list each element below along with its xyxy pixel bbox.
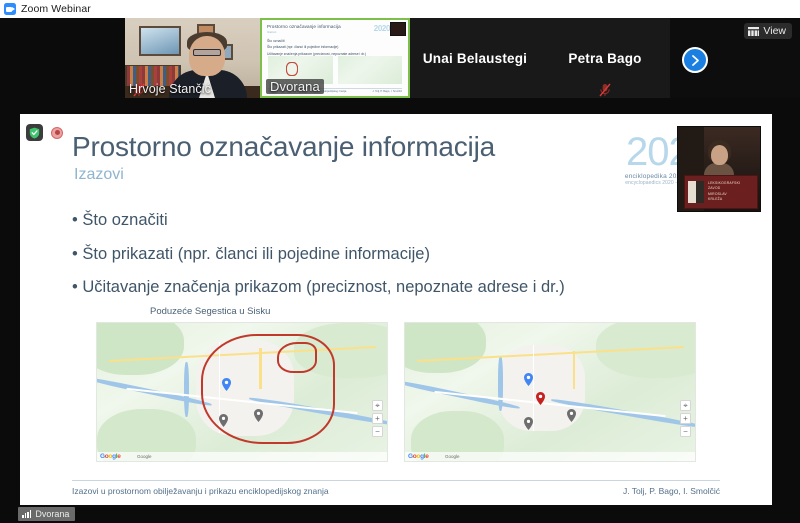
zoom-stage: Hrvoje Stančić 2020 Prostorno označavanj… — [0, 18, 800, 523]
slide-bullet-list: Što označiti Što prikazati (npr. članci … — [72, 212, 712, 313]
map-road — [573, 351, 575, 390]
map-pin-red — [536, 392, 545, 405]
taskbar-item-dvorana[interactable]: Dvorana — [18, 507, 75, 521]
map-boundary-outline — [277, 342, 318, 372]
map-attribution-bar: Google Google — [405, 452, 695, 461]
map-river — [498, 356, 503, 411]
map-pin-grey — [524, 417, 533, 430]
map-pin-grey — [567, 409, 576, 422]
mini-speaker-overlay — [390, 22, 406, 36]
view-button-label: View — [763, 25, 786, 37]
signal-bars-icon — [22, 510, 31, 518]
map-locate-button[interactable]: ⌖ — [372, 400, 383, 411]
map-river — [184, 362, 189, 417]
participant-tile-unai-belaustegi[interactable]: Unai Belaustegi — [410, 18, 540, 98]
map-zoom-in-button[interactable]: + — [372, 413, 383, 424]
shield-check-icon[interactable] — [26, 124, 43, 141]
participant-tile-hrvoje-stancic[interactable]: Hrvoje Stančić — [125, 18, 260, 98]
map-green-area — [96, 322, 184, 375]
shared-screen-region: Prostorno označavanje informacija Izazov… — [0, 98, 800, 523]
slide-footer-authors: J. Tolj, P. Bago, I. Smolčić — [623, 486, 720, 496]
participant-filmstrip: Hrvoje Stančić 2020 Prostorno označavanj… — [0, 18, 800, 98]
filmstrip-empty-area — [0, 18, 125, 98]
lectern-sign: LEKSIKOGRAFSKI ZAVOD MIROSLAV KRLEŽA — [684, 175, 758, 209]
participant-tile-label: Hrvoje Stančić — [129, 82, 211, 96]
share-status-icons — [26, 124, 63, 141]
map-zoom-out-button[interactable]: − — [680, 426, 691, 437]
map-attribution-text: Google — [137, 454, 152, 459]
window-titlebar: Zoom Webinar — [0, 0, 800, 18]
map-pin-blue — [524, 373, 533, 386]
map-pin-grey — [254, 409, 263, 422]
slide-subtitle: Izazovi — [74, 166, 124, 184]
view-button[interactable]: View — [744, 23, 792, 39]
lectern-line: KRLEŽA — [708, 197, 754, 202]
map-pin-blue — [222, 378, 231, 391]
taskbar: Dvorana — [0, 505, 800, 523]
record-dot-icon[interactable] — [51, 127, 63, 139]
map-with-boundary: ⌖ + − Google Google — [96, 322, 388, 462]
slide-bullet: Što prikazati (npr. članci ili pojedine … — [72, 246, 712, 263]
overlay-person-face — [711, 145, 728, 165]
grid-view-icon — [748, 27, 759, 36]
presentation-slide: Prostorno označavanje informacija Izazov… — [20, 114, 772, 510]
map-attribution-text: Google — [445, 454, 460, 459]
maps-row: ⌖ + − Google Google — [96, 322, 696, 462]
zoom-logo-icon — [4, 3, 16, 15]
person-face — [189, 36, 225, 76]
slide-bullet: Što označiti — [72, 212, 712, 229]
zoom-webinar-window: Zoom Webinar — [0, 0, 800, 523]
glasses-icon — [193, 49, 221, 56]
map-attribution-bar: Google Google — [97, 452, 387, 461]
map-with-pin: ⌖ + − Google Google — [404, 322, 696, 462]
maps-caption: Poduzeće Segestica u Sisku — [150, 306, 270, 317]
slide-footer: Izazovi u prostornom obilježavanju i pri… — [72, 480, 720, 496]
slide-bullet: Učitavanje značenja prikazom (preciznost… — [72, 279, 712, 296]
participant-tile-label: Petra Bago — [568, 51, 641, 66]
mini-logo-2020: 2020 — [374, 24, 390, 33]
next-page-button[interactable] — [682, 47, 708, 73]
map-zoom-in-button[interactable]: + — [680, 413, 691, 424]
map-locate-button[interactable]: ⌖ — [680, 400, 691, 411]
slide-footer-title: Izazovi u prostornom obilježavanju i pri… — [72, 486, 329, 496]
google-logo: Google — [408, 453, 429, 460]
chevron-right-icon — [690, 54, 701, 67]
map-controls[interactable]: ⌖ + − — [372, 400, 383, 437]
google-logo: Google — [100, 453, 121, 460]
lectern-sign-text: LEKSIKOGRAFSKI ZAVOD MIROSLAV KRLEŽA — [708, 181, 754, 202]
mini-bullet-list: Što označiti Što prikazati (npr. članci … — [267, 38, 403, 57]
filmstrip-controls: View — [670, 18, 800, 98]
mini-footer-right: J. Tolj, P. Bago, I. Smolčić — [372, 90, 402, 93]
map-zoom-out-button[interactable]: − — [372, 426, 383, 437]
participant-tile-dvorana[interactable]: 2020 Prostorno označavanje informacija I… — [260, 18, 410, 98]
participant-tile-label: Dvorana — [266, 79, 324, 94]
map-green-area — [404, 322, 486, 373]
map-controls[interactable]: ⌖ + − — [680, 400, 691, 437]
slide-title: Prostorno označavanje informacija — [72, 131, 495, 163]
mini-map — [338, 56, 403, 84]
participant-tile-label: Unai Belaustegi — [423, 51, 527, 66]
wall-picture-icon — [139, 26, 181, 56]
institution-logo-icon — [688, 181, 704, 203]
window-title: Zoom Webinar — [21, 3, 91, 15]
map-pin-grey — [219, 414, 228, 427]
speaker-video-overlay[interactable]: LEKSIKOGRAFSKI ZAVOD MIROSLAV KRLEŽA — [677, 126, 761, 212]
taskbar-item-label: Dvorana — [35, 509, 69, 519]
participant-tile-petra-bago[interactable]: Petra Bago — [540, 18, 670, 98]
mic-muted-icon — [599, 83, 611, 97]
